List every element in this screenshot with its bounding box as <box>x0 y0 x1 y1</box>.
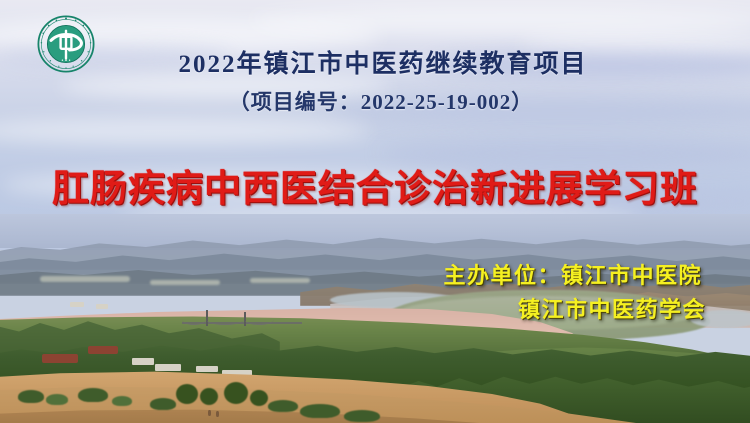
foreground-bush <box>46 394 68 405</box>
foreground-bush <box>78 388 108 402</box>
bridge-cable <box>182 314 206 325</box>
foreground-tree <box>224 382 248 404</box>
village-roof <box>42 354 78 363</box>
foreground-bush <box>344 410 380 422</box>
foreground-bush <box>150 398 176 410</box>
distant-building <box>70 302 84 307</box>
distant-field <box>150 280 220 285</box>
cloud-wisp <box>250 6 750 36</box>
bridge-cable <box>244 314 274 325</box>
organizer-secondary: 镇江市中医药学会 <box>518 292 706 324</box>
foreground-bush <box>268 400 298 412</box>
program-code-line: （项目编号：2022-25-19-002） <box>0 86 750 116</box>
program-title-line: 2022年镇江市中医药继续教育项目 <box>0 44 750 80</box>
distant-field <box>40 276 130 282</box>
foreground-bush <box>18 390 44 403</box>
foreground-tree <box>250 390 268 406</box>
bridge-cable <box>206 314 244 325</box>
foreground-tree <box>176 384 198 404</box>
village-building <box>155 364 181 371</box>
person-figure <box>216 411 219 417</box>
village-building <box>132 358 154 365</box>
distant-field <box>250 278 310 283</box>
distant-building <box>96 304 108 309</box>
person-figure <box>208 410 211 416</box>
foreground-bush <box>300 404 340 418</box>
conference-poster: 2022年镇江市中医药继续教育项目 （项目编号：2022-25-19-002） … <box>0 0 750 423</box>
foreground-tree <box>200 388 218 405</box>
sky-background <box>0 0 750 250</box>
organizer-primary: 主办单位：镇江市中医院 <box>443 258 702 290</box>
cloud-wisp <box>0 118 370 144</box>
village-roof <box>88 346 118 354</box>
main-course-title: 肛肠疾病中西医结合诊治新进展学习班 <box>0 158 750 212</box>
foreground-bush <box>112 396 132 406</box>
village-building <box>196 366 218 372</box>
